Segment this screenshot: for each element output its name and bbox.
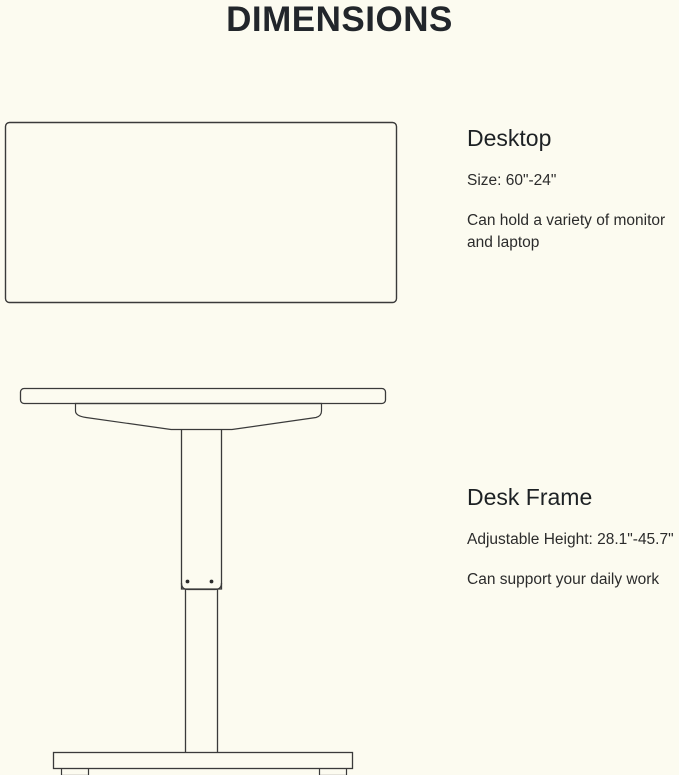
desk-frame-height-label: Adjustable Height: 28.1"-45.7": [467, 529, 679, 551]
desk-line-drawings: [0, 0, 420, 775]
dimensions-infographic: DIMENSIONS: [0, 0, 679, 775]
diagram-illustrations: [0, 0, 420, 775]
desktop-info-block: Desktop Size: 60"-24" Can hold a variety…: [467, 124, 679, 254]
desk-frame-info-block: Desk Frame Adjustable Height: 28.1"-45.7…: [467, 483, 679, 591]
screw-dot-left: [186, 580, 190, 584]
desktop-description: Can hold a variety of monitor and laptop: [467, 210, 679, 254]
desktop-outline-rectangle: [6, 123, 397, 303]
support-beam: [76, 404, 322, 430]
desktop-size-label: Size: 60"-24": [467, 170, 679, 192]
base-plate: [54, 753, 353, 769]
desk-frame-description: Can support your daily work: [467, 569, 679, 591]
foot-left: [62, 769, 89, 775]
desk-frame-side-elevation: [21, 389, 386, 775]
desk-frame-heading: Desk Frame: [467, 483, 679, 511]
tabletop-slab: [21, 389, 386, 404]
screw-dot-right: [210, 580, 214, 584]
foot-right: [320, 769, 347, 775]
desktop-heading: Desktop: [467, 124, 679, 152]
upper-column: [182, 430, 222, 590]
